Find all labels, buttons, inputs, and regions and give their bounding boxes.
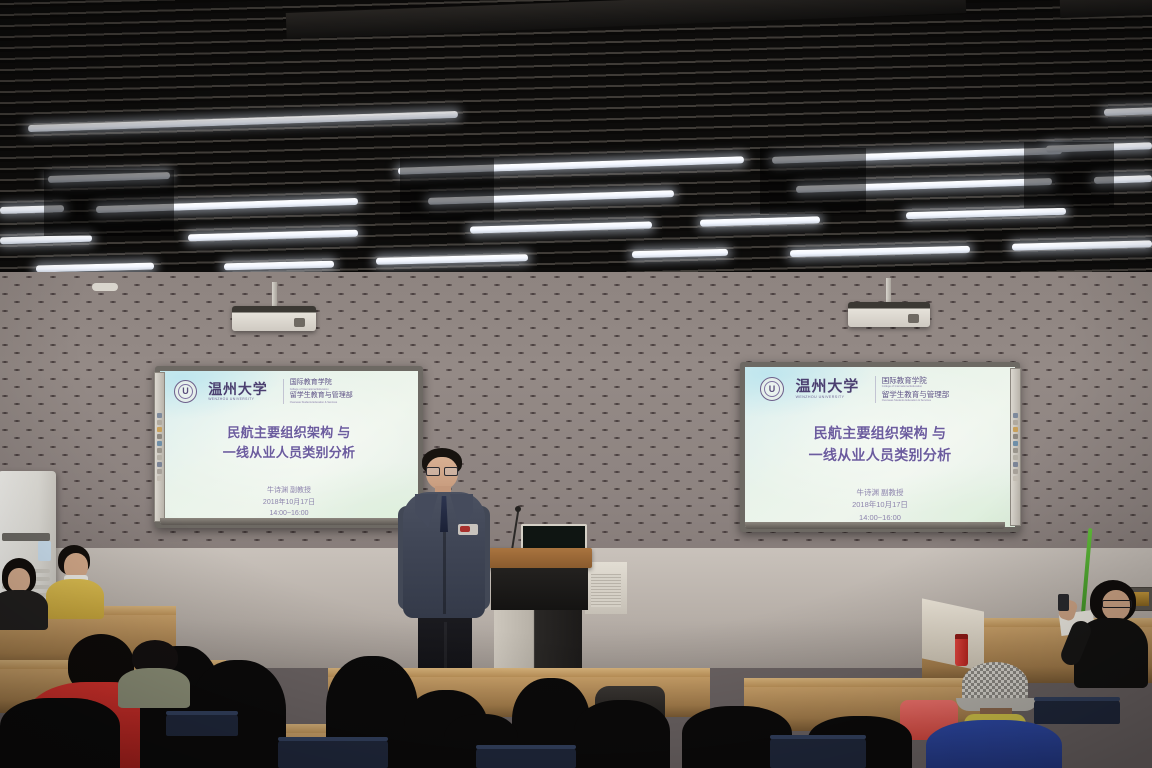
presenter-badge	[458, 524, 478, 535]
slide-header-right: 温州大学 WENZHOU UNIVERSITY 国际教育学院 College o…	[745, 376, 1015, 403]
whiteboard-tool-button[interactable]	[1013, 413, 1018, 418]
torso	[118, 668, 190, 708]
department-en-1: College of International Education	[290, 388, 353, 391]
university-name-cn: 温州大学	[208, 382, 267, 396]
whiteboard-tool-button[interactable]	[1013, 476, 1018, 481]
face	[8, 568, 30, 592]
slide-title-line-2: 一线从业人员类别分析	[745, 445, 1015, 467]
slide-right: 温州大学 WENZHOU UNIVERSITY 国际教育学院 College o…	[745, 367, 1015, 527]
projector-left	[232, 306, 316, 331]
slide-date: 2018年10月17日	[745, 499, 1015, 511]
ac-display-panel[interactable]	[2, 533, 50, 541]
chair-back	[476, 748, 576, 768]
presenter	[396, 448, 492, 690]
projector-lens-icon	[908, 314, 919, 323]
audience-member-olive-top	[116, 640, 190, 706]
department-cn-2: 留学生教育与管理部	[290, 392, 353, 401]
slide-left: 温州大学 WENZHOU UNIVERSITY 国际教育学院 College o…	[160, 371, 418, 523]
whiteboard-tool-button[interactable]	[157, 462, 162, 467]
whiteboard-tool-button[interactable]	[157, 434, 162, 439]
audience-member-photographer	[1056, 580, 1148, 690]
projector-mount-pole-left	[272, 282, 277, 306]
whiteboard-tool-button[interactable]	[157, 455, 162, 460]
ceiling	[0, 0, 1152, 286]
ceiling-shadow	[1024, 142, 1114, 208]
ceiling-light-tube	[1104, 107, 1152, 116]
whiteboard-tool-button[interactable]	[157, 448, 162, 453]
whiteboard-tool-button[interactable]	[1013, 441, 1018, 446]
ceiling-slats	[0, 0, 1152, 286]
glasses-icon	[1102, 600, 1132, 608]
slide-title-line-1: 民航主要组织架构 与	[745, 423, 1015, 445]
whiteboard-tool-button[interactable]	[1013, 420, 1018, 425]
audience-silhouette	[574, 700, 670, 768]
university-name-block: 温州大学 WENZHOU UNIVERSITY	[796, 379, 860, 400]
whiteboard-tool-button[interactable]	[157, 420, 162, 425]
department-cn-2: 留学生教育与管理部	[882, 390, 950, 399]
slide-presenter: 牛诗渊 副教授	[160, 485, 418, 497]
projector-mount-pole-right	[886, 278, 891, 302]
whiteboard-tool-button[interactable]	[157, 469, 162, 474]
torso	[0, 590, 48, 630]
whiteboard-tool-button[interactable]	[1013, 448, 1018, 453]
podium-monitor[interactable]	[521, 524, 587, 551]
right-whiteboard[interactable]: 温州大学 WENZHOU UNIVERSITY 国际教育学院 College o…	[740, 362, 1020, 532]
university-name-block: 温州大学 WENZHOU UNIVERSITY	[208, 382, 267, 401]
slide-subtitle-left: 牛诗渊 副教授 2018年10月17日 14:00~16:00	[160, 485, 418, 520]
projector-right	[848, 302, 930, 327]
department-en-2: Overseas Students Education & Services	[882, 399, 950, 402]
whiteboard-tool-button[interactable]	[157, 427, 162, 432]
ceiling-shadow	[400, 158, 494, 220]
slide-title-line-2: 一线从业人员类别分析	[160, 443, 418, 463]
whiteboard-tool-button[interactable]	[1013, 469, 1018, 474]
whiteboard-tool-button[interactable]	[157, 476, 162, 481]
phone-icon	[1058, 594, 1069, 611]
chair-back	[1034, 700, 1120, 724]
ceiling-shadow	[760, 148, 866, 214]
university-seal-icon	[760, 377, 784, 401]
department-en-1: College of International Education	[882, 385, 950, 388]
slide-header-left: 温州大学 WENZHOU UNIVERSITY 国际教育学院 College o…	[160, 379, 418, 404]
left-whiteboard-surface[interactable]: 温州大学 WENZHOU UNIVERSITY 国际教育学院 College o…	[160, 371, 418, 523]
whiteboard-toolbar-right[interactable]	[1010, 368, 1021, 526]
left-whiteboard-tray	[160, 518, 408, 525]
department-en-2: Overseas Students Education & Services	[290, 401, 353, 404]
podium-top	[487, 548, 592, 568]
department-block: 国际教育学院 College of International Educatio…	[875, 376, 950, 403]
lecture-hall-screenshot: 温州大学 WENZHOU UNIVERSITY 国际教育学院 College o…	[0, 0, 1152, 768]
torso	[46, 579, 104, 619]
whiteboard-tool-button[interactable]	[157, 413, 162, 418]
slide-title-line-1: 民航主要组织架构 与	[160, 423, 418, 443]
right-whiteboard-surface[interactable]: 温州大学 WENZHOU UNIVERSITY 国际教育学院 College o…	[745, 367, 1015, 527]
slide-subtitle-right: 牛诗渊 副教授 2018年10月17日 14:00~16:00	[745, 487, 1015, 524]
whiteboard-tool-button[interactable]	[1013, 427, 1018, 432]
whiteboard-tool-button[interactable]	[1013, 462, 1018, 467]
university-name-cn: 温州大学	[796, 379, 860, 394]
university-seal-icon	[174, 380, 197, 403]
audience-silhouette	[0, 698, 120, 768]
university-name-en: WENZHOU UNIVERSITY	[208, 398, 267, 401]
chair-back	[770, 738, 866, 768]
podium-front-panel	[491, 568, 588, 610]
right-whiteboard-tray	[745, 522, 1005, 529]
whiteboard-tool-button[interactable]	[1013, 434, 1018, 439]
slide-presenter: 牛诗渊 副教授	[745, 487, 1015, 499]
presenter-lapel-left	[415, 494, 438, 528]
ceiling-shadow	[44, 170, 174, 236]
chair-back	[278, 740, 388, 768]
department-cn-1: 国际教育学院	[882, 376, 950, 385]
slide-date: 2018年10月17日	[160, 497, 418, 509]
slide-title-right: 民航主要组织架构 与 一线从业人员类别分析	[745, 423, 1015, 466]
ceiling-speaker-icon	[92, 283, 118, 291]
audience-member-yellow-sweater	[44, 545, 106, 617]
department-block: 国际教育学院 College of International Educatio…	[283, 379, 353, 404]
department-cn-1: 国际教育学院	[290, 379, 353, 388]
whiteboard-tool-button[interactable]	[157, 441, 162, 446]
microphone-icon	[515, 506, 521, 512]
podium-speaker-grill	[591, 574, 621, 607]
whiteboard-tool-button[interactable]	[1013, 455, 1018, 460]
slide-title-left: 民航主要组织架构 与 一线从业人员类别分析	[160, 423, 418, 463]
university-name-en: WENZHOU UNIVERSITY	[796, 396, 860, 400]
ceiling-beam	[1060, 0, 1152, 18]
glasses-icon	[426, 467, 458, 474]
whiteboard-toolbar-left[interactable]	[154, 372, 165, 522]
left-whiteboard[interactable]: 温州大学 WENZHOU UNIVERSITY 国际教育学院 College o…	[155, 366, 423, 528]
presenter-lapel-right	[450, 494, 473, 528]
chair-back	[166, 714, 238, 736]
projector-lens-icon	[294, 318, 305, 327]
audience-member-dark-top	[0, 558, 52, 624]
desk-partition-right	[922, 589, 984, 662]
torso	[926, 720, 1062, 768]
